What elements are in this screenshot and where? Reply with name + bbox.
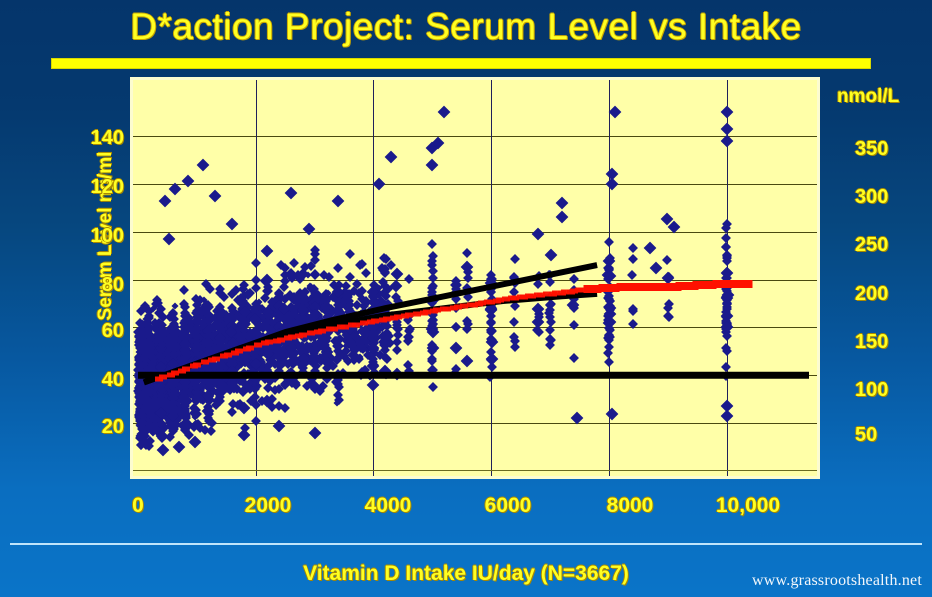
scatter-point (345, 249, 355, 259)
scatter-point (302, 223, 315, 236)
scatter-point (251, 258, 261, 268)
slide-canvas: D*action Project: Serum Level vs Intake … (0, 0, 932, 597)
x-axis-line (133, 470, 817, 471)
scatter-point (608, 106, 621, 119)
gridline-horizontal (133, 184, 817, 185)
scatter-point (361, 268, 371, 278)
scatter-point (644, 242, 657, 255)
scatter-point (251, 416, 261, 426)
scatter-point (333, 263, 343, 273)
mean-line-dash (743, 280, 752, 288)
page-title: D*action Project: Serum Level vs Intake (0, 6, 932, 48)
scatter-point (721, 242, 731, 252)
scatter-point (182, 175, 195, 188)
gridline-vertical (373, 80, 374, 476)
scatter-point (485, 372, 495, 382)
scatter-point (663, 311, 673, 321)
scatter-point (392, 337, 402, 347)
gridline-horizontal (133, 136, 817, 137)
y-tick-left-100: 100 (64, 225, 124, 248)
y-tick-left-20: 20 (64, 416, 124, 439)
scatter-point (628, 254, 638, 264)
scatter-point (159, 194, 172, 207)
x-tick-10000: 10,000 (716, 494, 780, 518)
scatter-point (404, 274, 414, 284)
scatter-point (604, 357, 614, 367)
y-tick-right-250: 250 (832, 234, 928, 257)
scatter-point (721, 233, 731, 243)
scatter-point (156, 443, 169, 456)
scatter-point (367, 379, 380, 392)
y-tick-right-200: 200 (832, 283, 928, 306)
y-tick-right-150: 150 (832, 331, 928, 354)
scatter-point (280, 403, 290, 413)
scatter-point (544, 249, 557, 262)
trendlines-layer (133, 80, 817, 476)
scatter-point (650, 261, 663, 274)
scatter-point (289, 258, 299, 268)
scatter-point (226, 218, 239, 231)
scatter-point (662, 255, 672, 265)
scatter-point (545, 277, 555, 287)
y-tick-left-40: 40 (64, 369, 124, 392)
scatter-point (510, 254, 520, 264)
scatter-point (391, 268, 404, 281)
x-tick-8000: 8000 (607, 494, 654, 518)
website-credit: www.grassrootshealth.net (752, 572, 922, 590)
scatter-point (532, 228, 545, 241)
scatter-point (569, 353, 579, 363)
scatter-point (461, 355, 474, 368)
scatter-point (569, 320, 579, 330)
scatter-point (569, 274, 579, 284)
plot-area (130, 77, 820, 479)
scatter-point (627, 270, 637, 280)
y-axis-ticks-right: 350 300 250 200 150 100 50 (832, 0, 928, 597)
scatter-point (285, 187, 298, 200)
y-tick-left-60: 60 (64, 320, 124, 343)
y-tick-left-120: 120 (64, 176, 124, 199)
scatter-point (208, 189, 221, 202)
scatter-point (227, 407, 237, 417)
scatter-point (426, 158, 439, 171)
y-tick-right-100: 100 (832, 379, 928, 402)
scatter-point (390, 280, 403, 293)
scatter-point (260, 245, 273, 258)
y-axis-ticks-left: 140 120 100 80 60 40 20 (58, 0, 124, 597)
title-underline-bar (51, 58, 871, 69)
x-tick-6000: 6000 (485, 494, 532, 518)
gridline-horizontal (133, 232, 817, 233)
scatter-point (462, 248, 472, 258)
scatter-point (427, 239, 437, 249)
scatter-point (308, 426, 321, 439)
scatter-point (720, 106, 733, 119)
scatter-point (428, 273, 438, 283)
scatter-point (721, 362, 731, 372)
scatter-point (510, 301, 520, 311)
scatter-point (463, 292, 473, 302)
scatter-point (173, 441, 186, 454)
scatter-point (196, 158, 209, 171)
x-tick-2000: 2000 (245, 494, 292, 518)
y-tick-right-50: 50 (832, 424, 928, 447)
scatter-point (510, 342, 520, 352)
scatter-point (332, 194, 345, 207)
x-tick-4000: 4000 (365, 494, 412, 518)
scatter-point (179, 285, 189, 295)
scatter-point (390, 368, 403, 381)
scatter-point (555, 211, 568, 224)
scatter-point (450, 341, 463, 354)
scatter-point (438, 106, 451, 119)
scatter-point (373, 177, 386, 190)
scatter-point (273, 419, 286, 432)
scatter-point (720, 410, 733, 423)
scatter-point (162, 232, 175, 245)
y-tick-left-80: 80 (64, 274, 124, 297)
scatter-point (605, 177, 618, 190)
scatter-point (721, 371, 731, 381)
scatter-point (428, 382, 438, 392)
scatter-point (604, 237, 614, 247)
y-tick-right-350: 350 (832, 138, 928, 161)
scatter-point (451, 322, 461, 332)
gridline-horizontal (133, 423, 817, 424)
scatter-point (605, 407, 618, 420)
footer-divider (10, 543, 922, 545)
x-tick-0: 0 (132, 494, 144, 518)
scatter-point (509, 317, 519, 327)
y-tick-right-300: 300 (832, 186, 928, 209)
y-tick-left-140: 140 (64, 127, 124, 150)
scatter-point (238, 429, 251, 442)
scatter-point (451, 294, 461, 304)
scatter-point (720, 122, 733, 135)
plot-inner (133, 80, 817, 476)
scatter-point (385, 151, 398, 164)
scatter-point (628, 243, 638, 253)
scatter-point (555, 197, 568, 210)
